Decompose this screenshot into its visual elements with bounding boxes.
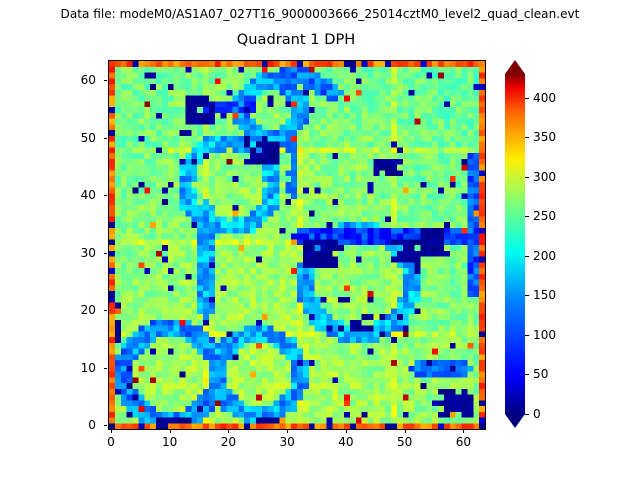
colorbar-tick-mark [525,414,529,415]
colorbar-gradient [505,74,525,414]
colorbar-tick-label: 400 [533,91,556,105]
y-tick-label: 10 [56,361,96,375]
detector-heatmap-image[interactable] [109,61,485,429]
y-tick-label: 40 [56,188,96,202]
x-tick-label: 30 [267,435,307,449]
y-tick-mark [104,310,108,311]
colorbar-tick-label: 250 [533,209,556,223]
colorbar-over-arrow-icon [505,60,525,74]
y-tick-label: 20 [56,303,96,317]
y-tick-label: 0 [56,418,96,432]
x-tick-mark [228,429,229,433]
x-tick-mark [111,429,112,433]
y-tick-label: 60 [56,73,96,87]
plot-title: Quadrant 1 DPH [108,31,484,49]
x-tick-mark [346,429,347,433]
colorbar-tick-mark [525,98,529,99]
colorbar-tick-mark [525,137,529,138]
x-tick-label: 0 [91,435,131,449]
x-tick-label: 50 [385,435,425,449]
colorbar-tick-mark [525,335,529,336]
y-tick-mark [104,138,108,139]
x-tick-mark [405,429,406,433]
y-tick-mark [104,195,108,196]
figure-canvas: Data file: modeM0/AS1A07_027T16_90000036… [0,0,640,480]
y-tick-label: 30 [56,246,96,260]
colorbar-tick-label: 150 [533,288,556,302]
x-tick-label: 20 [208,435,248,449]
y-tick-mark [104,80,108,81]
y-tick-mark [104,368,108,369]
colorbar-tick-mark [525,295,529,296]
x-tick-label: 40 [326,435,366,449]
x-tick-label: 60 [443,435,483,449]
colorbar-tick-mark [525,216,529,217]
colorbar-tick-label: 200 [533,249,556,263]
y-tick-mark [104,253,108,254]
x-tick-mark [170,429,171,433]
colorbar-under-arrow-icon [505,414,525,428]
colorbar-tick-mark [525,256,529,257]
colorbar-tick-label: 100 [533,328,556,342]
colorbar-tick-label: 350 [533,130,556,144]
colorbar-tick-mark [525,374,529,375]
x-tick-label: 10 [150,435,190,449]
colorbar-tick-label: 0 [533,407,541,421]
heatmap-axes[interactable] [108,60,486,430]
x-tick-mark [463,429,464,433]
colorbar-tick-label: 300 [533,170,556,184]
data-file-label: Data file: modeM0/AS1A07_027T16_90000036… [0,7,640,21]
y-tick-mark [104,425,108,426]
colorbar-tick-mark [525,177,529,178]
x-tick-mark [287,429,288,433]
colorbar-tick-label: 50 [533,367,548,381]
y-tick-label: 50 [56,131,96,145]
colorbar[interactable] [505,60,525,428]
